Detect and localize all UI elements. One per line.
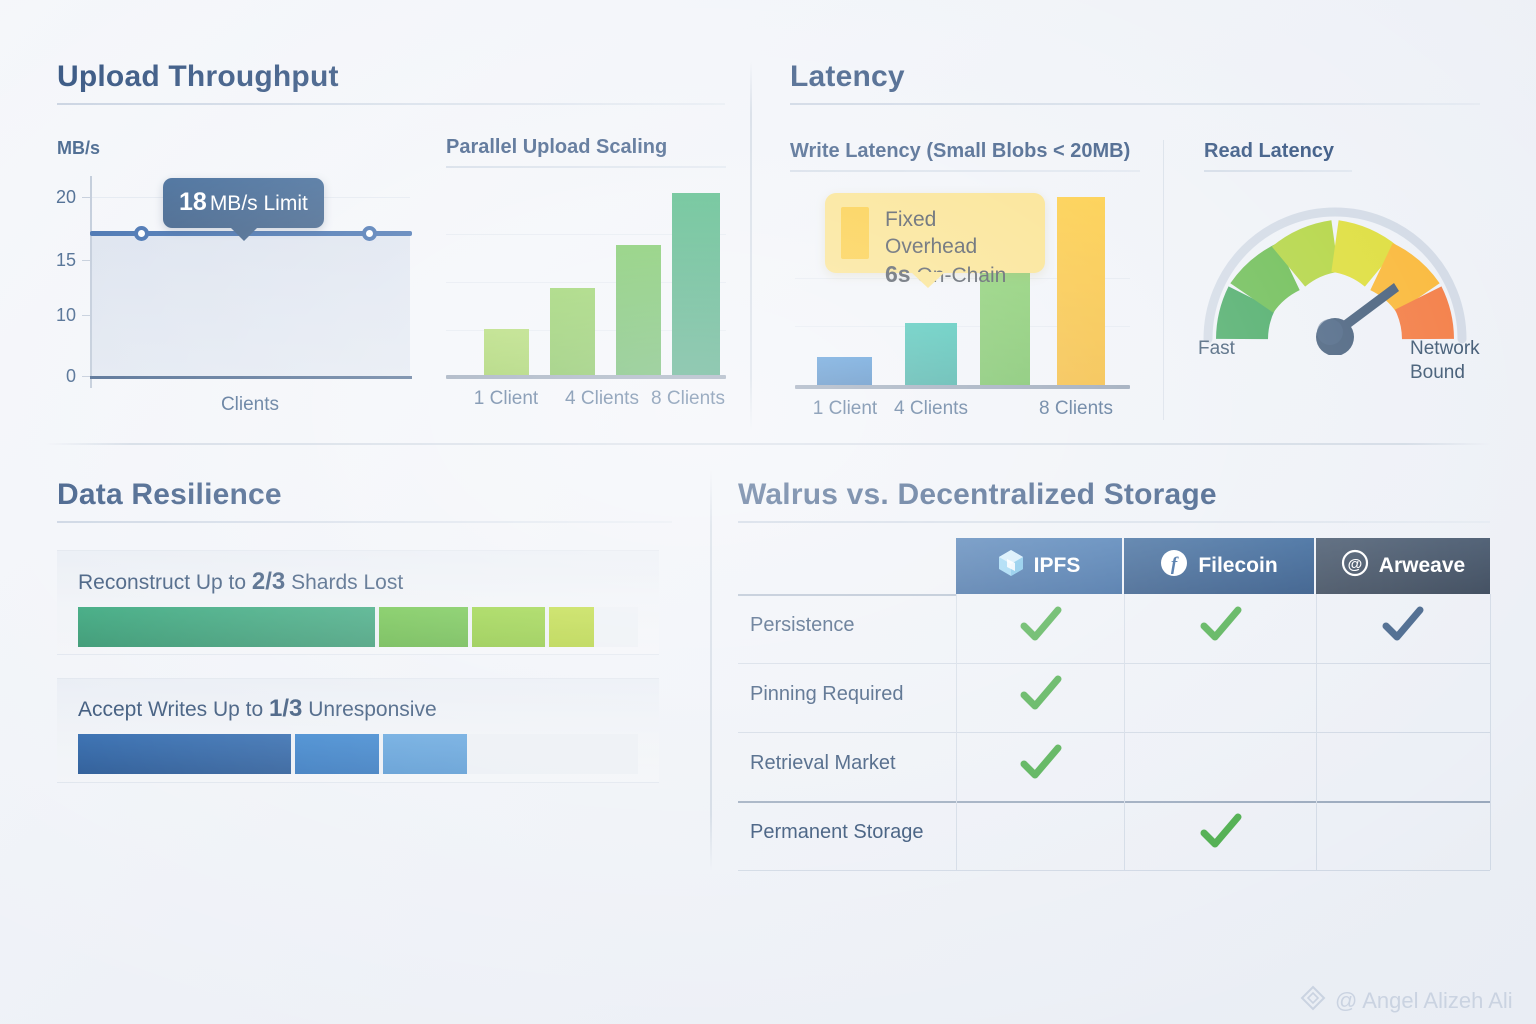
- watermark-text: @ Angel Alizeh Ali: [1335, 988, 1513, 1014]
- read-latency-header: Read Latency: [1204, 140, 1476, 172]
- resilience-label-reconstruct: Reconstruct Up to 2/3 Shards Lost: [78, 568, 403, 596]
- table-rule: [1490, 594, 1491, 870]
- write-latency-chart: 1 Client 4 Clients 8 Clients Fixed Overh…: [795, 195, 1130, 390]
- page-title-resilience: Data Resilience: [57, 478, 672, 512]
- read-latency-gauge: Fast Network Bound: [1190, 195, 1480, 355]
- bar-1-client: [484, 329, 529, 375]
- checkmark-green: [1200, 606, 1242, 651]
- resilience-label-accept-writes: Accept Writes Up to 1/3 Unresponsive: [78, 695, 437, 723]
- tooltip-color-swatch: [841, 207, 869, 259]
- resilience-suffix: Shards Lost: [285, 571, 403, 594]
- progress-segment: [78, 734, 291, 774]
- progress-segment: [78, 607, 375, 647]
- table-row-label-retrieval-market: Retrieval Market: [750, 752, 896, 775]
- table-header-filecoin[interactable]: f Filecoin: [1124, 538, 1314, 594]
- checkmark-green: [1020, 606, 1062, 651]
- chart-baseline: [446, 375, 726, 379]
- parallel-upload-scaling-chart: 1 Client 4 Clients 8 Clients: [446, 190, 726, 380]
- comparison-table: IPFS f Filecoin @ Arweave: [738, 538, 1490, 868]
- ipfs-cube-icon: [998, 549, 1024, 583]
- resilience-prefix: Accept Writes Up to: [78, 698, 269, 721]
- checkmark-navy: [1382, 606, 1424, 651]
- table-rule: [738, 801, 1490, 803]
- x-axis-label: Clients: [150, 394, 350, 416]
- write-latency-title: Write Latency (Small Blobs < 20MB): [790, 140, 1140, 163]
- arweave-at-icon: @: [1341, 549, 1369, 583]
- table-rule: [956, 594, 957, 870]
- progress-segment: [295, 734, 379, 774]
- y-tick-10: 10: [36, 305, 76, 326]
- chart-baseline: [795, 385, 1130, 389]
- table-rule: [738, 594, 956, 596]
- latency-label-8-clients: 8 Clients: [1021, 398, 1131, 420]
- latency-bar-8-clients: [1057, 197, 1105, 385]
- resilience-header: Data Resilience: [57, 478, 672, 523]
- resilience-emphasis: 1/3: [269, 695, 302, 722]
- title-rule: [57, 103, 725, 105]
- checkmark-green: [1020, 744, 1062, 789]
- x-axis-line: [90, 376, 412, 379]
- page-title-comparison: Walrus vs. Decentralized Storage: [738, 478, 1490, 512]
- gauge-label-fast: Fast: [1198, 337, 1235, 361]
- comparison-header: Walrus vs. Decentralized Storage: [738, 478, 1490, 523]
- table-row-label-persistence: Persistence: [750, 614, 855, 637]
- resilience-emphasis: 2/3: [252, 568, 285, 595]
- resilience-suffix: Unresponsive: [302, 698, 436, 721]
- bar-4-clients: [616, 245, 661, 375]
- table-row-label-permanent-storage: Permanent Storage: [750, 821, 923, 844]
- gauge-label-line-2: Bound: [1410, 362, 1465, 383]
- tooltip-value: 6s: [885, 261, 911, 287]
- tooltip-tail: [911, 272, 945, 288]
- tooltip-tail: [230, 227, 258, 241]
- table-rule: [1316, 594, 1317, 870]
- top-panels-divider: [750, 62, 752, 430]
- scaling-chart-title: Parallel Upload Scaling: [446, 136, 726, 159]
- bar-label-4-clients: 4 Clients: [552, 388, 652, 410]
- page-title-latency: Latency: [790, 60, 1480, 94]
- bar-label-8-clients: 8 Clients: [638, 388, 738, 410]
- resilience-progress-reconstruct: [78, 607, 638, 647]
- latency-bar-4-clients: [905, 323, 957, 385]
- resilience-progress-accept-writes: [78, 734, 638, 774]
- throughput-limit-tooltip: 18MB/s Limit: [163, 178, 324, 228]
- tooltip-value: 18: [179, 188, 207, 216]
- filecoin-f-icon: f: [1160, 549, 1188, 583]
- page-title-upload: Upload Throughput: [57, 60, 725, 94]
- table-rule: [1124, 594, 1125, 870]
- table-row-label-pinning-required: Pinning Required: [750, 683, 903, 706]
- tooltip-line-1: Fixed Overhead: [885, 206, 1025, 260]
- bar-label-1-client: 1 Client: [456, 388, 556, 410]
- title-rule: [790, 103, 1480, 105]
- bar-2: [550, 288, 595, 375]
- data-point: [134, 226, 149, 241]
- read-latency-title: Read Latency: [1204, 140, 1476, 163]
- y-tick-0: 0: [36, 366, 76, 387]
- sub-rule: [1204, 170, 1352, 172]
- latency-header: Latency: [790, 60, 1480, 105]
- watermark: @ Angel Alizeh Ali: [1300, 985, 1513, 1017]
- write-latency-header: Write Latency (Small Blobs < 20MB): [790, 140, 1140, 172]
- sub-rule: [446, 166, 726, 168]
- y-axis-unit-label: MB/s: [57, 138, 100, 159]
- progress-segment: [383, 734, 467, 774]
- gauge-svg: [1190, 195, 1480, 355]
- title-rule: [738, 521, 1490, 523]
- sub-rule: [790, 170, 1140, 172]
- bar-8-clients: [672, 193, 720, 375]
- tooltip-text: MB/s Limit: [210, 192, 308, 215]
- data-point: [362, 226, 377, 241]
- diamond-logo-icon: [1300, 985, 1326, 1017]
- y-tick-15: 15: [36, 250, 76, 271]
- upload-throughput-header: Upload Throughput: [57, 60, 725, 105]
- gauge-label-line-1: Network: [1410, 338, 1480, 359]
- title-rule: [57, 521, 672, 523]
- area-fill: [92, 236, 410, 377]
- table-header-label: Filecoin: [1198, 554, 1277, 578]
- latency-label-4-clients: 4 Clients: [881, 398, 981, 420]
- fixed-overhead-tooltip: Fixed Overhead 6s On-Chain: [825, 193, 1045, 273]
- progress-segment: [379, 607, 469, 647]
- top-bottom-divider: [44, 443, 1492, 445]
- scaling-chart-header: Parallel Upload Scaling: [446, 136, 726, 168]
- table-rule: [738, 732, 1490, 733]
- gauge-label-network-bound: Network Bound: [1410, 337, 1480, 385]
- latency-inner-divider: [1163, 140, 1164, 420]
- progress-segment: [549, 607, 594, 647]
- checkmark-green: [1020, 675, 1062, 720]
- table-rule: [738, 663, 1490, 664]
- checkmark-green: [1200, 813, 1242, 858]
- table-header-arweave[interactable]: @ Arweave: [1316, 538, 1490, 594]
- table-header-label: Arweave: [1379, 554, 1465, 578]
- resilience-prefix: Reconstruct Up to: [78, 571, 252, 594]
- table-header-ipfs[interactable]: IPFS: [956, 538, 1122, 594]
- latency-label-1-client: 1 Client: [795, 398, 895, 420]
- progress-segment: [472, 607, 545, 647]
- bottom-panels-divider: [710, 470, 712, 870]
- y-tick-20: 20: [36, 187, 76, 208]
- svg-text:@: @: [1347, 556, 1362, 573]
- table-header-label: IPFS: [1034, 554, 1081, 578]
- dashboard-canvas: Upload Throughput MB/s 20 15 10 0 Client…: [0, 0, 1536, 1024]
- latency-bar-1-client: [817, 357, 872, 385]
- table-rule: [738, 870, 1490, 871]
